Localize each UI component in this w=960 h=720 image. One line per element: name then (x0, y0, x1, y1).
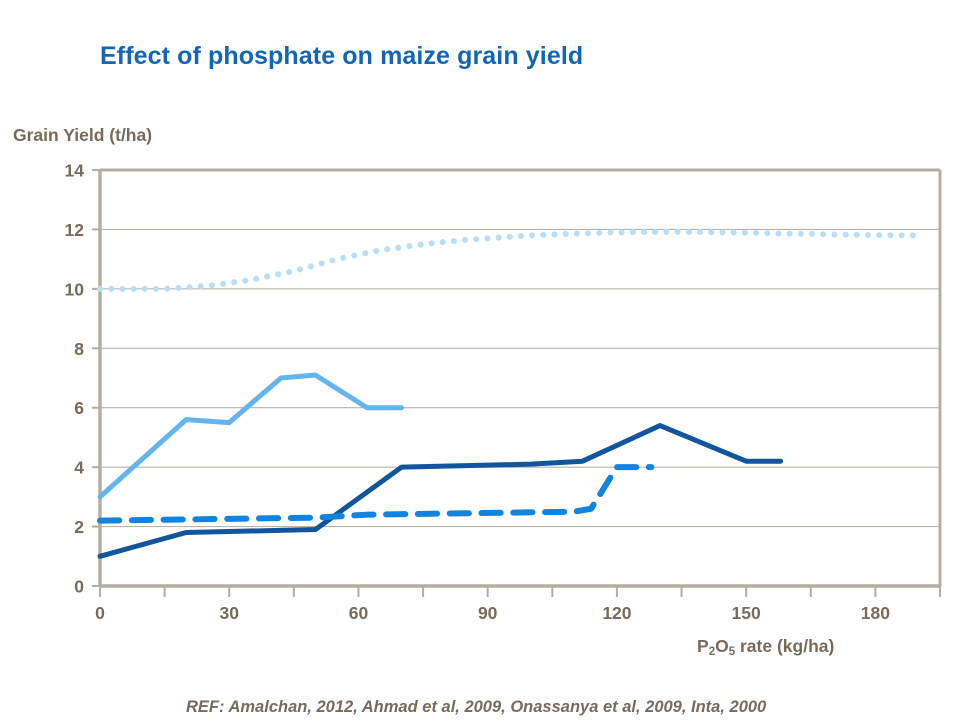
series-line-2 (100, 426, 781, 557)
y-tick-label-2: 2 (74, 517, 84, 537)
series-line-1 (100, 232, 918, 289)
y-tick-label-0: 0 (74, 577, 84, 597)
plot-series (100, 232, 918, 556)
x-tick-label-0: 0 (95, 603, 105, 623)
plot-gridlines (100, 170, 940, 527)
y-tick-label-14: 14 (65, 161, 85, 181)
y-tick-label-6: 6 (74, 398, 84, 418)
x-tick-label-180: 180 (861, 603, 890, 623)
series-line-3 (100, 467, 651, 520)
series-line-0 (100, 375, 402, 497)
y-tick-label-10: 10 (65, 279, 85, 299)
y-tick-label-12: 12 (65, 220, 85, 240)
y-tick-label-8: 8 (74, 339, 84, 359)
slide-canvas: Effect of phosphate on maize grain yield… (0, 0, 960, 720)
y-tick-label-4: 4 (74, 458, 84, 478)
x-tick-label-30: 30 (219, 603, 239, 623)
x-tick-label-90: 90 (478, 603, 498, 623)
x-tick-label-150: 150 (732, 603, 761, 623)
line-chart: 024681012140306090120150180 (0, 0, 960, 720)
x-tick-label-60: 60 (349, 603, 369, 623)
x-tick-label-120: 120 (602, 603, 631, 623)
